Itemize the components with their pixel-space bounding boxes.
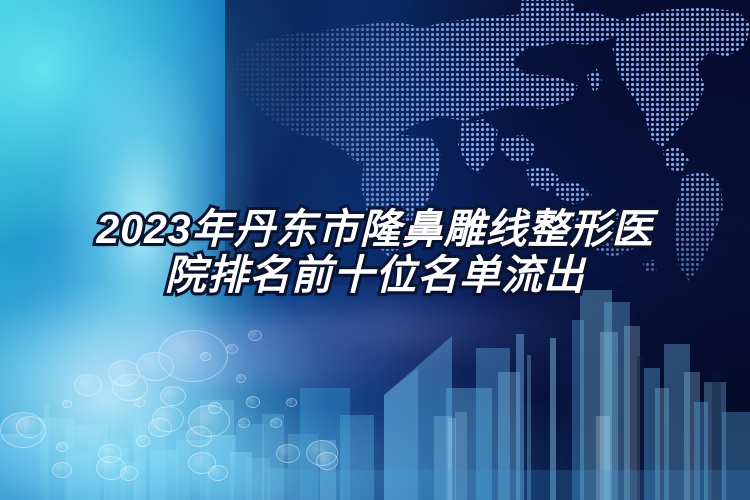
title-line-2: 院排名前十位名单流出 — [0, 252, 750, 298]
banner-image: 2023年丹东市隆鼻雕线整形医 院排名前十位名单流出 — [0, 0, 750, 500]
page-title: 2023年丹东市隆鼻雕线整形医 院排名前十位名单流出 — [0, 206, 750, 298]
title-line-1: 2023年丹东市隆鼻雕线整形医 — [0, 206, 750, 252]
light-streak-lavender — [0, 320, 750, 384]
